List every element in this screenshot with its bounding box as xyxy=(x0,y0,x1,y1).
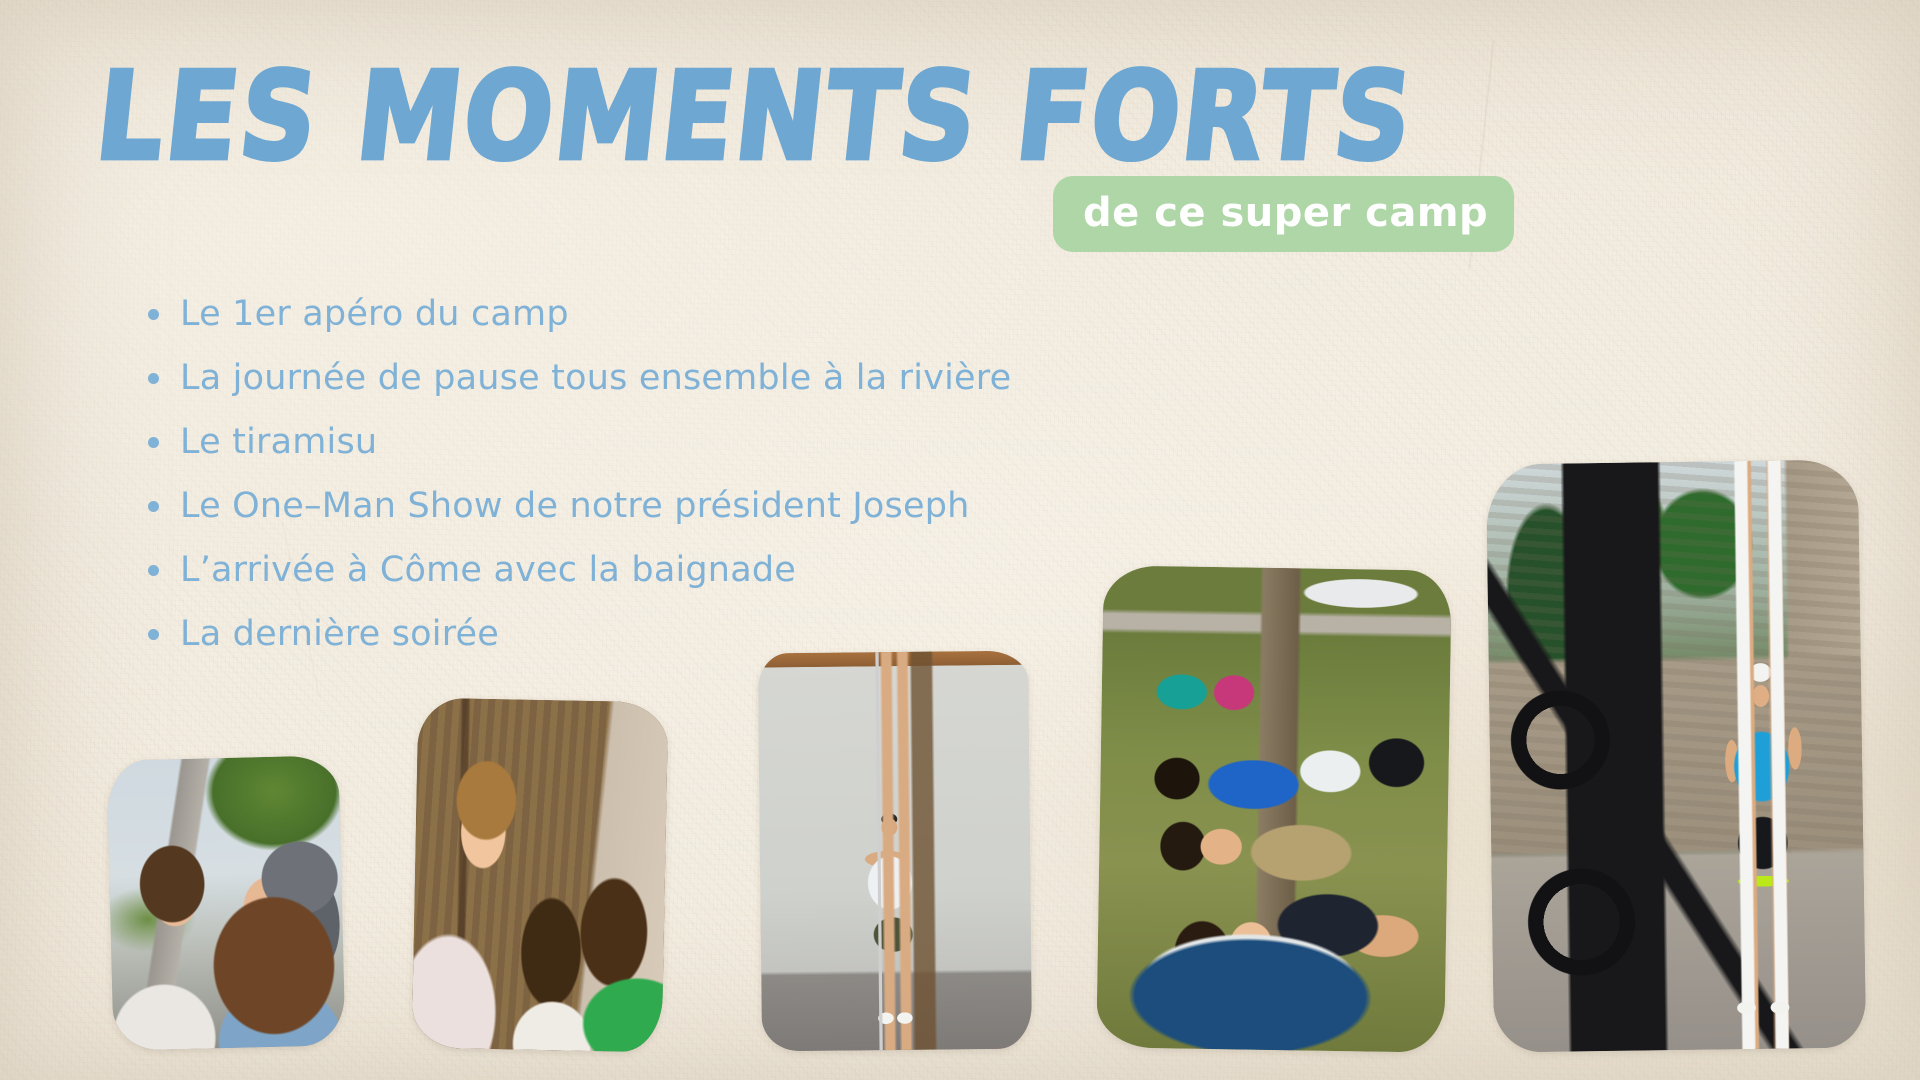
bullet-dot-icon xyxy=(148,501,159,512)
bullet-dot-icon xyxy=(148,309,159,320)
photo-rest-on-air-mattress xyxy=(1096,565,1452,1052)
highlights-list: Le 1er apéro du camp La journée de pause… xyxy=(148,282,1011,666)
photo-three-friends-indoors xyxy=(412,698,669,1053)
photo-cyclist-thumbs-up xyxy=(1486,459,1866,1052)
bullet-dot-icon xyxy=(148,373,159,384)
list-item: Le 1er apéro du camp xyxy=(148,282,1011,346)
subtitle-badge: de ce super camp xyxy=(1053,176,1514,252)
list-item-label: La journée de pause tous ensemble à la r… xyxy=(180,361,1011,396)
list-item-label: L’arrivée à Côme avec la baignade xyxy=(180,553,796,588)
list-item-label: Le 1er apéro du camp xyxy=(180,297,569,332)
subtitle-badge-label: de ce super camp xyxy=(1083,193,1488,233)
photo-image xyxy=(1096,565,1452,1052)
photo-image xyxy=(106,755,345,1051)
photo-image xyxy=(1486,459,1866,1052)
photo-two-girls-laughing xyxy=(106,755,345,1051)
list-item: Le One–Man Show de notre président Josep… xyxy=(148,474,1011,538)
slide-canvas: LES MOMENTS FORTS de ce super camp Le 1e… xyxy=(0,0,1920,1080)
photo-one-man-show xyxy=(758,651,1032,1052)
list-item: L’arrivée à Côme avec la baignade xyxy=(148,538,1011,602)
page-title-text: LES MOMENTS FORTS xyxy=(91,56,1444,177)
photo-image xyxy=(412,698,669,1053)
list-item-label: La dernière soirée xyxy=(180,617,499,652)
list-item-label: Le tiramisu xyxy=(180,425,377,460)
page-title: LES MOMENTS FORTS xyxy=(104,56,1444,186)
list-item: Le tiramisu xyxy=(148,410,1011,474)
bullet-dot-icon xyxy=(148,565,159,576)
photo-image xyxy=(758,651,1032,1052)
bullet-dot-icon xyxy=(148,629,159,640)
list-item-label: Le One–Man Show de notre président Josep… xyxy=(180,489,970,524)
list-item: La journée de pause tous ensemble à la r… xyxy=(148,346,1011,410)
bullet-dot-icon xyxy=(148,437,159,448)
